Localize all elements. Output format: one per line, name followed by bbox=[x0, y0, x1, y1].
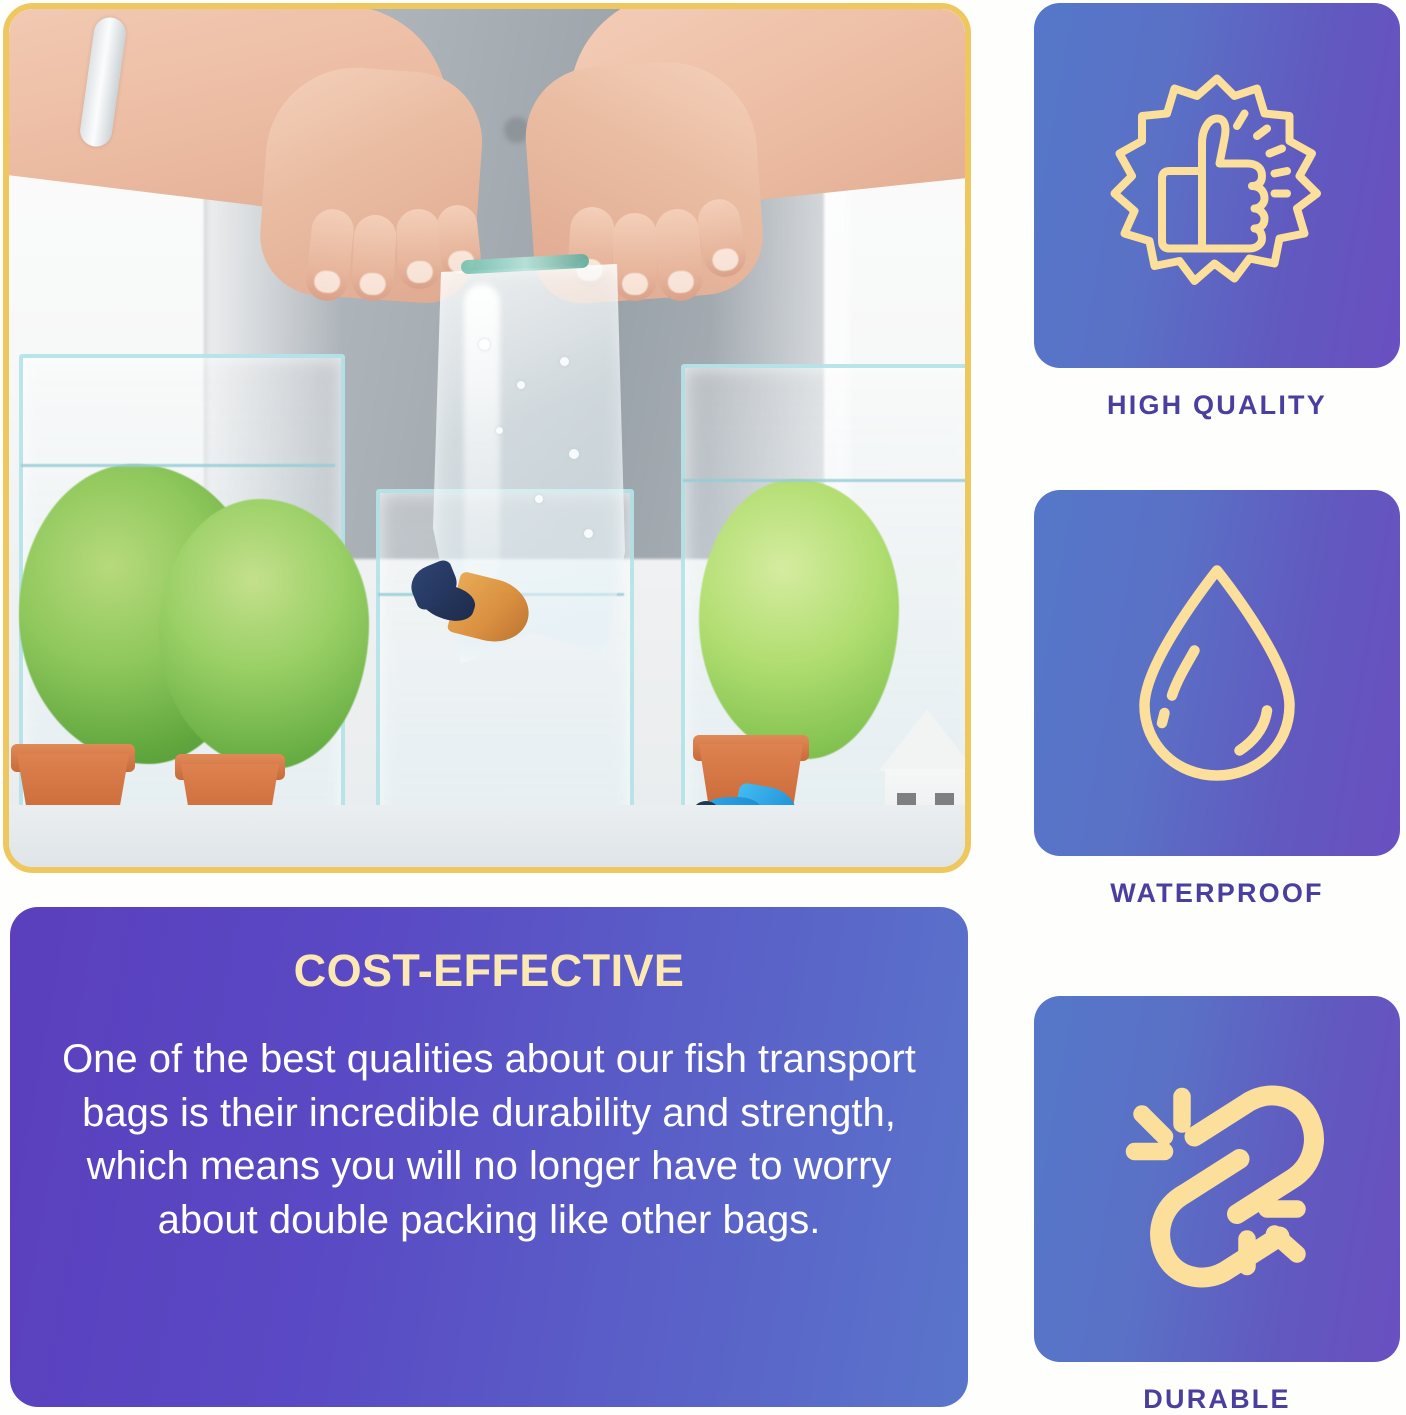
table-surface bbox=[9, 805, 965, 867]
green-aquarium-plant bbox=[159, 499, 369, 769]
feature-card-durable: DURABLE bbox=[1034, 996, 1400, 1415]
orange-blue-betta-fish bbox=[401, 557, 533, 665]
feature-card-waterproof: WATERPROOF bbox=[1034, 490, 1400, 909]
feature-icon-tile bbox=[1034, 3, 1400, 368]
feature-caption: DURABLE bbox=[1034, 1384, 1400, 1415]
water-droplet-icon bbox=[1092, 548, 1342, 798]
cost-effective-body: One of the best qualities about our fish… bbox=[54, 1033, 924, 1247]
bag-highlight bbox=[464, 284, 500, 584]
feature-card-high-quality: HIGH QUALITY bbox=[1034, 3, 1400, 421]
feature-icon-tile bbox=[1034, 996, 1400, 1362]
chain-link-strong-icon bbox=[1092, 1054, 1342, 1304]
product-photo bbox=[9, 9, 965, 867]
feature-caption: HIGH QUALITY bbox=[1034, 390, 1400, 421]
cost-effective-card: COST-EFFECTIVE One of the best qualities… bbox=[10, 907, 968, 1407]
finger bbox=[396, 208, 443, 289]
water-surface-left bbox=[21, 464, 335, 467]
feature-caption: WATERPROOF bbox=[1034, 878, 1400, 909]
finger bbox=[613, 213, 657, 301]
cost-effective-title: COST-EFFECTIVE bbox=[294, 945, 685, 997]
green-aquarium-plant bbox=[699, 479, 899, 759]
finger bbox=[654, 208, 704, 303]
product-photo-card bbox=[3, 3, 971, 873]
water-surface-right bbox=[683, 479, 965, 482]
finger bbox=[351, 214, 397, 302]
thumbs-up-badge-icon bbox=[1092, 61, 1342, 311]
feature-icon-tile bbox=[1034, 490, 1400, 856]
house-roof bbox=[879, 709, 965, 771]
